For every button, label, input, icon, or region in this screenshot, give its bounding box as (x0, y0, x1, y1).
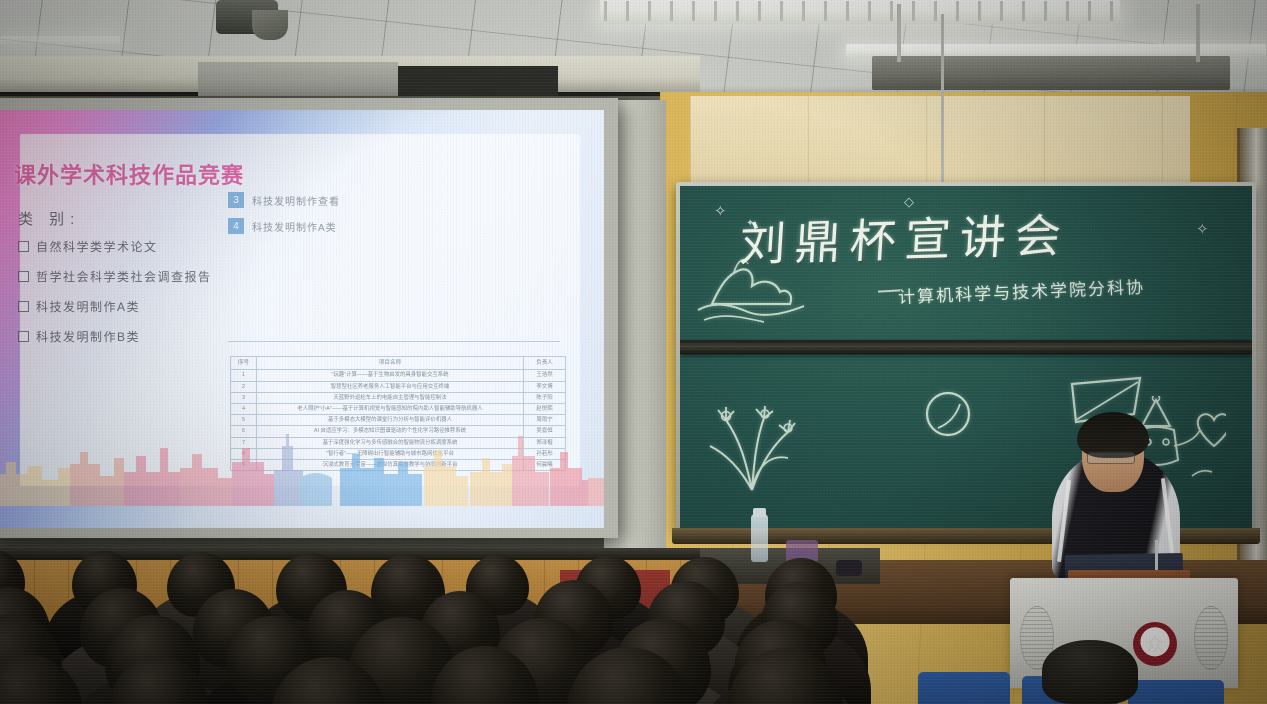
table-cell-no: 5 (231, 415, 257, 426)
table-row: 2智慧型社区养老服务人工智能平台与应用交互终端李文博 (231, 381, 566, 392)
table-cell-leader: 李文博 (524, 381, 566, 392)
block-number-badge: 4 (228, 218, 244, 234)
checkbox-icon (18, 301, 29, 312)
table-header-no: 序号 (231, 357, 257, 370)
table-row: 1"玩趣"计算——基于生物启发的具身智能交互系统王浩然 (231, 370, 566, 381)
table-cell-leader: 陈子阳 (524, 392, 566, 403)
planet-circle-chalk-drawing (920, 386, 976, 442)
sparkle-diamond-chalk-drawing: ✧ (714, 202, 727, 220)
category-text: 科技发明制作B类 (36, 328, 140, 345)
checkbox-icon (18, 331, 29, 342)
table-cell-name: 天蓝野外巡检车上的电能自主管理与智能控制法 (257, 392, 524, 403)
table-cell-no: 4 (231, 404, 257, 415)
checkbox-icon (18, 271, 29, 282)
table-cell-leader: 王浩然 (524, 370, 566, 381)
table-cell-no: 1 (231, 370, 257, 381)
slide-category-item-1: 自然科学类学术论文 (18, 238, 158, 255)
slide-category-item-4: 科技发明制作B类 (18, 328, 140, 345)
category-text: 自然科学类学术论文 (36, 238, 158, 255)
foreground-head (1042, 640, 1138, 704)
blackboard-title: 刘鼎杯宣讲会 (738, 199, 1072, 274)
table-cell-name: 基于多模态大模型的课堂行为分析与智能评价机器人 (257, 415, 524, 426)
university-seal (1133, 622, 1177, 666)
hanging-rod-left (897, 4, 901, 62)
table-row: 5基于多模态大模型的课堂行为分析与智能评价机器人周雨宁 (231, 415, 566, 426)
tube-light-left-icon (0, 36, 120, 46)
table-row: 4老人照护"小A"——基于计算机视觉与智能感知的院内助人智能辅助导航机器人赵悦熙 (231, 404, 566, 415)
orchid-plant-chalk-drawing (702, 362, 806, 492)
block-number-badge: 3 (228, 192, 244, 208)
heart-balloon-chalk-drawing (1198, 414, 1226, 446)
object-on-table (836, 560, 862, 576)
table-cell-name: 老人照护"小A"——基于计算机视觉与智能感知的院内助人智能辅助导航机器人 (257, 404, 524, 415)
slide-block-heading-1: 3 科技发明制作查看 (228, 192, 340, 208)
table-header-row: 序号 项目名称 负责人 (231, 357, 566, 370)
table-header-leader: 负责人 (524, 357, 566, 370)
hanging-rod-right (1196, 4, 1200, 62)
sparkle-diamond-right-chalk-drawing: ✧ (1196, 220, 1209, 238)
table-cell-no: 3 (231, 392, 257, 403)
slide-category-item-2: 哲学社会科学类社会调查报告 (18, 268, 212, 285)
city-skyline-graphic (0, 428, 604, 506)
slide-rule (228, 341, 560, 342)
water-bottle-icon (751, 514, 768, 562)
hanging-light-bar-icon (872, 56, 1230, 90)
tube-light-front-icon (600, 0, 1120, 24)
slide-title: 课外学术科技作品竞赛 (14, 158, 244, 190)
slide-category-label: 类 别: (18, 208, 80, 229)
upper-wall-panel (690, 96, 1190, 184)
table-cell-name: "玩趣"计算——基于生物启发的具身智能交互系统 (257, 370, 524, 381)
table-header-name: 项目名称 (257, 357, 524, 370)
checkbox-icon (18, 241, 29, 252)
lectern-grill-right (1194, 606, 1228, 670)
presentation-slide: 课外学术科技作品竞赛 类 别: 自然科学类学术论文 哲学社会科学类社会调查报告 … (0, 110, 604, 528)
table-cell-leader: 赵悦熙 (524, 404, 566, 415)
lecture-hall-photo: ✧ ✦ ◇ ✧ 刘鼎杯宣讲会 计算机科学与技术学院分科协 (0, 0, 1267, 704)
slide-block-heading-2: 4 科技发明制作A类 (228, 218, 337, 234)
table-row: 3天蓝野外巡检车上的电能自主管理与智能控制法陈子阳 (231, 392, 566, 403)
table-cell-name: 智慧型社区养老服务人工智能平台与应用交互终端 (257, 381, 524, 392)
table-cell-leader: 周雨宁 (524, 415, 566, 426)
blackboard-divider (680, 340, 1252, 354)
category-text: 科技发明制作A类 (36, 298, 140, 315)
block-label: 科技发明制作查看 (252, 193, 340, 208)
blackboard-subtitle: 计算机科学与技术学院分科协 (898, 273, 1146, 308)
blackboard-subtitle-dash (878, 289, 900, 292)
block-label: 科技发明制作A类 (252, 219, 337, 234)
presenter-glasses-icon (1087, 452, 1135, 464)
projector-lens-icon (252, 10, 288, 40)
category-text: 哲学社会科学类社会调查报告 (36, 268, 212, 285)
chair-3 (1128, 680, 1224, 704)
projection-screen: 课外学术科技作品竞赛 类 别: 自然科学类学术论文 哲学社会科学类社会调查报告 … (0, 98, 618, 538)
slide-category-item-3: 科技发明制作A类 (18, 298, 140, 315)
chair-1 (918, 672, 1010, 704)
table-cell-no: 2 (231, 381, 257, 392)
water-bottle-cap-icon (753, 508, 766, 517)
